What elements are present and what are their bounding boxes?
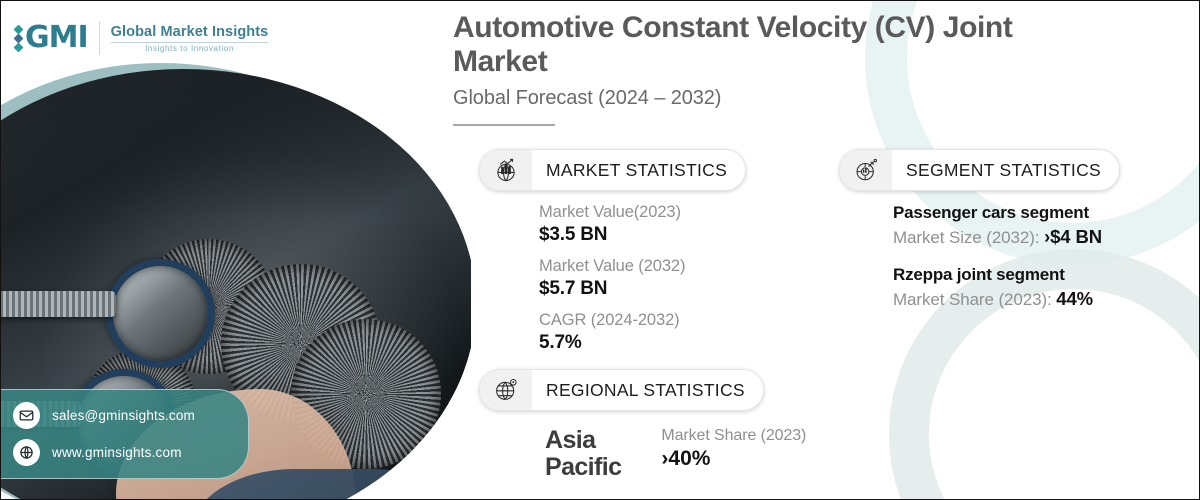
logo-mark: GMI — [15, 23, 88, 53]
segment-statistics-label: SEGMENT STATISTICS — [892, 150, 1119, 190]
regional-statistics-section: REGIONAL STATISTICS Asia Pacific Market … — [479, 369, 806, 480]
market-statistics-badge[interactable]: MARKET STATISTICS — [479, 149, 746, 191]
region-name: Asia Pacific — [545, 427, 621, 480]
stat-pair: Market Value(2023) $3.5 BN — [539, 203, 746, 246]
region-share: Market Share (2023) ›40% — [661, 427, 806, 471]
stat-label: Market Value(2023) — [539, 203, 746, 222]
segment-item: Passenger cars segment Market Size (2032… — [893, 203, 1120, 248]
segment-heading: Rzeppa joint segment — [893, 265, 1120, 285]
stat-pair: Market Value (2032) $5.7 BN — [539, 257, 746, 300]
regional-statistics-badge[interactable]: REGIONAL STATISTICS — [479, 369, 764, 411]
regional-statistics-label: REGIONAL STATISTICS — [532, 370, 763, 410]
hero-image-panel: sales@gminsights.com www.gminsights.com — [1, 1, 471, 500]
infographic-canvas: sales@gminsights.com www.gminsights.com … — [0, 0, 1200, 500]
market-statistics-label: MARKET STATISTICS — [532, 150, 745, 190]
segment-statistics-body: Passenger cars segment Market Size (2032… — [839, 203, 1120, 310]
logo-wordmark: Global Market Insights Insights to Innov… — [111, 24, 269, 53]
stat-value: $5.7 BN — [539, 278, 746, 300]
segment-statistics-section: SEGMENT STATISTICS Passenger cars segmen… — [839, 149, 1120, 310]
market-statistics-body: Market Value(2023) $3.5 BN Market Value … — [479, 203, 746, 354]
contact-card: sales@gminsights.com www.gminsights.com — [1, 389, 249, 479]
logo-tagline: Insights to Innovation — [145, 44, 234, 53]
segment-statistics-badge[interactable]: SEGMENT STATISTICS — [839, 149, 1120, 191]
logo-divider — [99, 21, 100, 55]
segment-item: Rzeppa joint segment Market Share (2023)… — [893, 265, 1120, 310]
segment-metric: Market Share (2023): 44% — [893, 288, 1120, 310]
pie-chart-arrow-icon — [840, 150, 892, 190]
cv-joint-hub-shape — [106, 259, 215, 368]
region-share-label: Market Share (2023) — [661, 427, 806, 445]
logo-company-name: Global Market Insights — [111, 24, 269, 40]
stat-value: $3.5 BN — [539, 224, 746, 246]
contact-email-row[interactable]: sales@gminsights.com — [13, 402, 234, 429]
segment-metric-label: Market Share (2023): — [893, 290, 1056, 309]
globe-pin-icon — [480, 370, 532, 410]
contact-email-text: sales@gminsights.com — [52, 408, 195, 423]
stat-pair: CAGR (2024-2032) 5.7% — [539, 311, 746, 354]
logo-rule — [111, 42, 269, 43]
contact-website-text: www.gminsights.com — [52, 445, 182, 460]
segment-heading: Passenger cars segment — [893, 203, 1120, 223]
segment-metric-value: 44% — [1056, 288, 1093, 309]
segment-metric-value: ›$4 BN — [1044, 226, 1102, 247]
title-underline — [453, 124, 555, 126]
globe-bar-chart-icon — [480, 150, 532, 190]
regional-statistics-body: Asia Pacific Market Share (2023) ›40% — [479, 427, 806, 480]
logo-gmi-text: GMI — [25, 23, 88, 53]
splined-shaft-shape — [1, 291, 116, 317]
heading-block: Automotive Constant Velocity (CV) Joint … — [453, 11, 1113, 126]
page-subtitle: Global Forecast (2024 – 2032) — [453, 87, 1113, 110]
segment-metric-label: Market Size (2032): — [893, 228, 1044, 247]
segment-metric: Market Size (2032): ›$4 BN — [893, 226, 1120, 248]
gmi-logo[interactable]: GMI Global Market Insights Insights to I… — [15, 21, 268, 55]
diamond-cluster-icon — [15, 26, 22, 51]
contact-website-row[interactable]: www.gminsights.com — [13, 439, 234, 466]
region-share-value: ›40% — [661, 447, 806, 471]
globe-icon — [13, 439, 40, 466]
envelope-icon — [13, 402, 40, 429]
stat-label: CAGR (2024-2032) — [539, 311, 746, 330]
page-title: Automotive Constant Velocity (CV) Joint … — [453, 11, 1113, 79]
photo-top-shade — [1, 69, 471, 219]
stat-value: 5.7% — [539, 332, 746, 354]
stat-label: Market Value (2032) — [539, 257, 746, 276]
market-statistics-section: MARKET STATISTICS Market Value(2023) $3.… — [479, 149, 746, 356]
